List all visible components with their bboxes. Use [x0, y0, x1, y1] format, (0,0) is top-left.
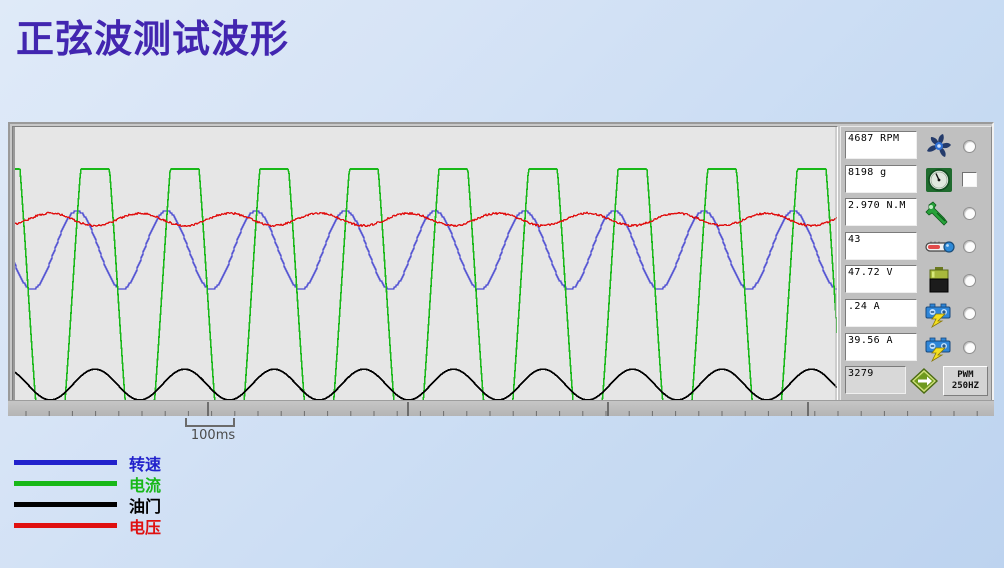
readout-radio[interactable] [963, 140, 976, 153]
waveform-trace-current [13, 169, 837, 404]
readout-toggle[interactable] [959, 165, 979, 195]
readout-toggle[interactable] [959, 299, 979, 329]
readout-radio[interactable] [963, 240, 976, 253]
legend-color-swatch [14, 460, 117, 465]
thermometer-icon [919, 232, 959, 262]
readout-toggle[interactable] [959, 232, 979, 262]
legend-item: 转速 [14, 452, 161, 473]
torque-wrench-icon [919, 198, 959, 228]
readout-radio[interactable] [963, 341, 976, 354]
legend-item: 电压 [14, 515, 161, 536]
legend-item: 电流 [14, 473, 161, 494]
instrument-window: 4687 RPM8198 g2.970 N.M4347.72 V.24 A39.… [8, 122, 994, 412]
pwm-button-line1: PWM [957, 370, 973, 381]
readout-row: 47.72 V [845, 265, 988, 299]
readout-row: 8198 g [845, 165, 988, 199]
chart-legend: 转速电流油门电压 [14, 452, 161, 536]
time-ruler-ticks [8, 401, 994, 416]
scale-label: 100ms [181, 428, 245, 443]
pwm-button[interactable]: PWM250HZ [943, 366, 988, 396]
page-title: 正弦波测试波形 [16, 8, 289, 63]
time-ruler [8, 400, 994, 416]
green-arrow-icon [908, 366, 941, 396]
pwm-button-line2: 250HZ [952, 381, 979, 392]
readout-radio[interactable] [963, 207, 976, 220]
legend-color-swatch [14, 481, 117, 486]
legend-label: 电压 [129, 514, 161, 538]
scale-bracket-icon [185, 418, 235, 427]
readout-row: 3279PWM250HZ [845, 366, 988, 400]
readout-row: 43 [845, 232, 988, 266]
readout-toggle[interactable] [959, 333, 979, 363]
legend-color-swatch [14, 502, 117, 507]
readout-value-field[interactable]: .24 A [845, 299, 917, 327]
waveform-svg [13, 127, 837, 407]
readout-row: .24 A [845, 299, 988, 333]
readout-row: 2.970 N.M [845, 198, 988, 232]
fan-icon [919, 131, 959, 161]
readout-checkbox[interactable] [962, 172, 977, 187]
readout-radio[interactable] [963, 307, 976, 320]
readout-toggle[interactable] [959, 131, 979, 161]
readout-toggle[interactable] [959, 265, 979, 295]
readout-value-field[interactable]: 47.72 V [845, 265, 917, 293]
legend-item: 油门 [14, 494, 161, 515]
app-root: 正弦波测试波形 4687 RPM8198 g2.970 N.M4347.72 V… [0, 0, 1004, 568]
time-scale-marker: 100ms [185, 418, 305, 452]
legend-color-swatch [14, 523, 117, 528]
readout-value-field[interactable]: 4687 RPM [845, 131, 917, 159]
battery-bolt-icon [919, 333, 959, 363]
readout-value-field[interactable]: 2.970 N.M [845, 198, 917, 226]
readout-value-field[interactable]: 8198 g [845, 165, 917, 193]
battery-icon [919, 265, 959, 295]
readout-value-field[interactable]: 43 [845, 232, 917, 260]
readout-toggle[interactable] [959, 198, 979, 228]
waveform-trace-rpm [13, 211, 837, 289]
waveform-plot[interactable] [12, 126, 838, 408]
readout-value-field[interactable]: 3279 [845, 366, 906, 394]
readout-panel: 4687 RPM8198 g2.970 N.M4347.72 V.24 A39.… [840, 126, 992, 408]
readout-radio[interactable] [963, 274, 976, 287]
readout-row: 4687 RPM [845, 131, 988, 165]
battery-bolt-icon [919, 299, 959, 329]
readout-row: 39.56 A [845, 333, 988, 367]
gauge-icon [919, 165, 959, 195]
readout-value-field[interactable]: 39.56 A [845, 333, 917, 361]
